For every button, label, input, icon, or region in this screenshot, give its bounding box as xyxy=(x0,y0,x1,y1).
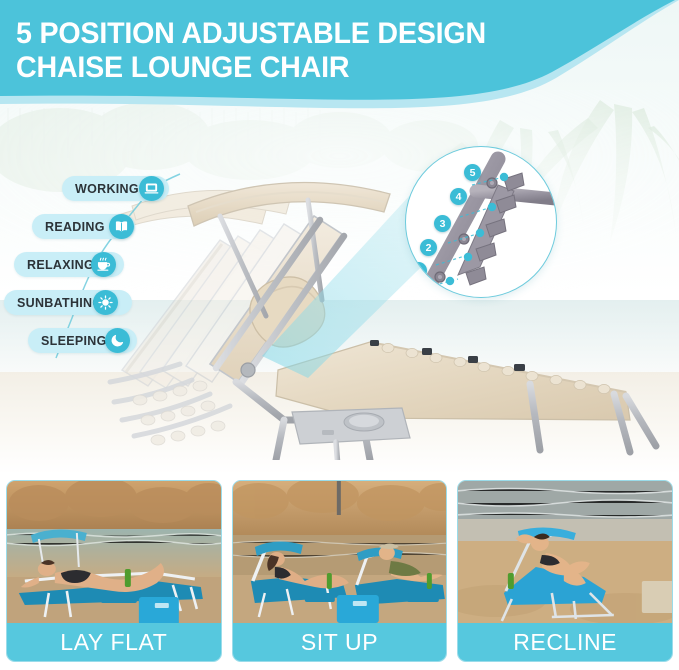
product-infographic: 1 2 3 4 5 WORKING xyxy=(0,0,679,670)
panel-photo-sit-up xyxy=(233,481,447,623)
front-leg-left xyxy=(276,420,284,460)
feature-pill-reading[interactable]: READING xyxy=(0,210,190,243)
rear-foot-right xyxy=(626,396,656,446)
position-marker-5: 5 xyxy=(464,164,481,181)
laptop-icon xyxy=(139,176,164,201)
panel-sit-up[interactable]: SIT UP xyxy=(232,480,448,662)
feature-pill-relaxing[interactable]: RELAXING xyxy=(0,248,190,281)
feature-pill-sleeping[interactable]: SLEEPING xyxy=(0,324,190,357)
panel-recline[interactable]: RECLINE xyxy=(457,480,673,662)
feature-pill-sunbathing[interactable]: SUNBATHING xyxy=(0,286,190,319)
feature-pill-list: WORKING READING xyxy=(0,172,190,362)
book-icon xyxy=(109,214,134,239)
panel-caption-lay-flat: LAY FLAT xyxy=(7,623,221,661)
panel-caption-recline: RECLINE xyxy=(458,623,672,661)
panel-caption-sit-up: SIT UP xyxy=(233,623,447,661)
feature-pill-working[interactable]: WORKING xyxy=(0,172,190,205)
notch-mechanism-detail xyxy=(406,147,556,297)
coffee-cup-icon xyxy=(91,252,116,277)
position-marker-2: 2 xyxy=(420,239,437,256)
adjustment-hinge xyxy=(241,363,255,377)
page-title: 5 POSITION ADJUSTABLE DESIGN CHAISE LOUN… xyxy=(16,17,617,85)
sun-icon xyxy=(93,290,118,315)
position-marker-3: 3 xyxy=(434,215,451,232)
position-marker-1: 1 xyxy=(410,262,427,279)
side-table xyxy=(292,408,410,460)
five-position-callout: 1 2 3 4 5 xyxy=(405,146,557,298)
hero-scene: 1 2 3 4 5 WORKING xyxy=(0,0,679,474)
moon-icon xyxy=(105,328,130,353)
panel-lay-flat[interactable]: LAY FLAT xyxy=(6,480,222,662)
header-banner: 5 POSITION ADJUSTABLE DESIGN CHAISE LOUN… xyxy=(0,0,679,120)
panel-photo-recline xyxy=(458,481,672,623)
position-examples: LAY FLAT xyxy=(0,480,679,670)
panel-photo-lay-flat xyxy=(7,481,221,623)
position-marker-4: 4 xyxy=(450,188,467,205)
